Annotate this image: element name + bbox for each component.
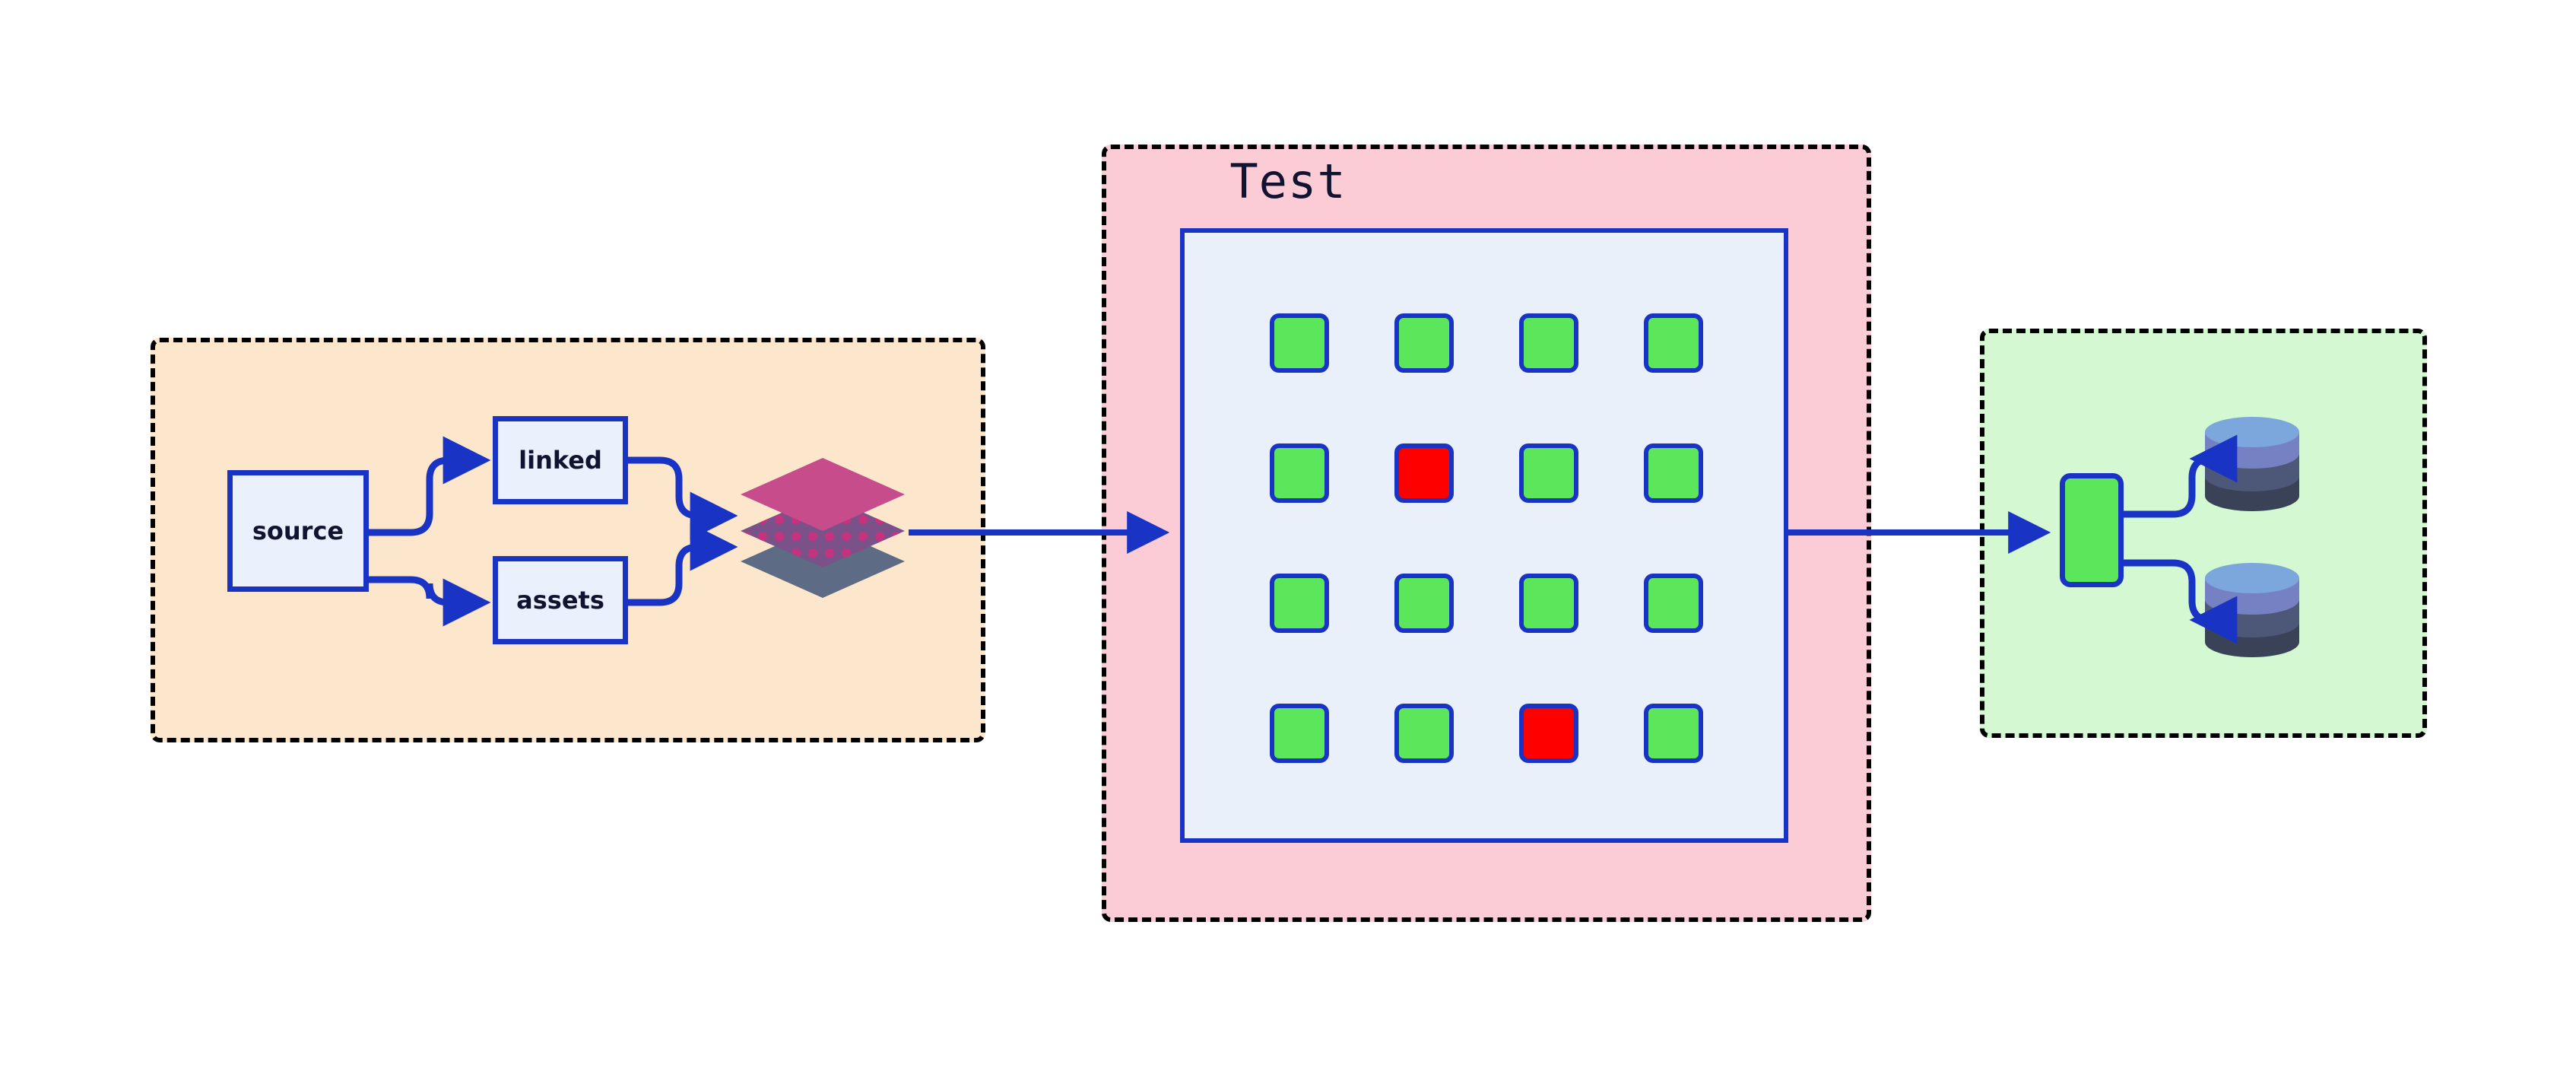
node-assets-label: assets [516,586,604,615]
stage-title-test: Test [0,154,2576,209]
test-results-grid [1270,313,1703,764]
test-cell-pass-r2c1[interactable] [1270,443,1329,503]
test-cell-pass-r1c3[interactable] [1519,313,1578,373]
test-cell-fail-r2c2[interactable] [1394,443,1454,503]
test-cell-pass-r3c4[interactable] [1644,574,1703,633]
test-cell-pass-r1c1[interactable] [1270,313,1329,373]
node-assets[interactable]: assets [493,556,628,644]
node-linked[interactable]: linked [493,416,628,504]
node-source[interactable]: source [227,470,369,592]
database-icon-top[interactable] [2203,417,2301,513]
layers-icon [741,447,905,606]
release-package[interactable] [2060,473,2124,587]
test-cell-pass-r4c1[interactable] [1270,704,1329,763]
test-cell-pass-r4c4[interactable] [1644,704,1703,763]
layers-icon-top [741,458,905,531]
database-icon-bottom[interactable] [2203,563,2301,659]
test-cell-pass-r1c4[interactable] [1644,313,1703,373]
test-cell-pass-r3c2[interactable] [1394,574,1454,633]
test-cell-pass-r3c1[interactable] [1270,574,1329,633]
test-cell-fail-r4c3[interactable] [1519,704,1578,763]
pipeline-diagram: Build Test Release source linked assets [0,0,2576,1068]
test-cell-pass-r2c4[interactable] [1644,443,1703,503]
test-cell-pass-r2c3[interactable] [1519,443,1578,503]
node-linked-label: linked [519,446,602,475]
test-cell-pass-r4c2[interactable] [1394,704,1454,763]
test-cell-pass-r1c2[interactable] [1394,313,1454,373]
node-source-label: source [252,517,344,545]
test-cell-pass-r3c3[interactable] [1519,574,1578,633]
